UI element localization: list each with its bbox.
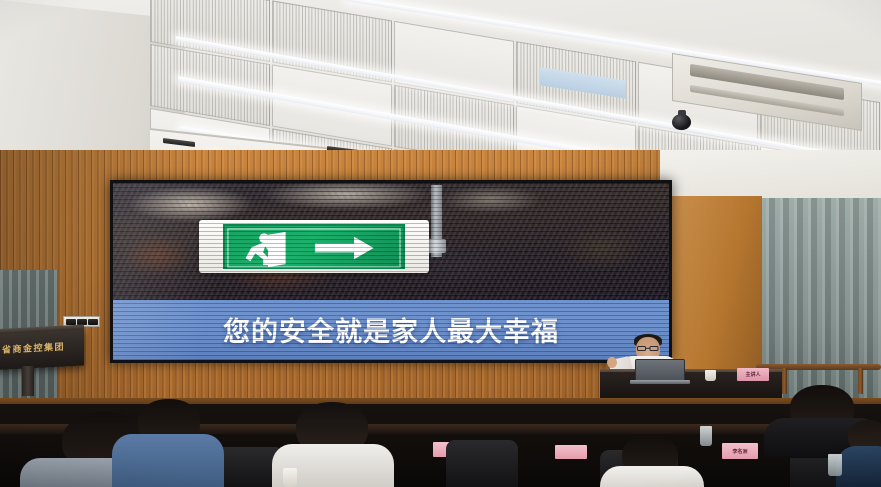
audience-placard-3-text: 李名洲	[732, 448, 747, 455]
audience-placard-2	[555, 445, 587, 459]
slide-banner: 您的安全就是家人最大幸福	[113, 300, 669, 360]
slide-banner-text: 您的安全就是家人最大幸福	[223, 310, 559, 349]
laptop-base[interactable]	[630, 380, 690, 384]
presenter-cup	[705, 370, 716, 381]
railing-post-2	[858, 368, 863, 394]
podium-stem	[22, 366, 34, 396]
pipe-clamp	[427, 239, 446, 253]
dome-security-camera	[672, 114, 691, 130]
presenter-hand	[607, 357, 617, 368]
water-glass-1	[700, 426, 712, 446]
presenter-placard-text: 主讲人	[745, 371, 760, 378]
water-glass-2	[828, 454, 842, 476]
exit-sign-green-face	[223, 224, 405, 269]
light-switch-1[interactable]	[66, 319, 76, 325]
paper-cup-1	[283, 468, 297, 487]
right-soffit	[660, 150, 881, 202]
light-switch-3[interactable]	[88, 319, 98, 325]
audience-placard-3: 李名洲	[722, 443, 758, 459]
presenter-glasses	[637, 346, 659, 351]
emergency-exit-sign	[199, 220, 429, 273]
laptop-screen[interactable]	[635, 359, 685, 381]
railing-post-1	[782, 368, 787, 394]
led-display-screen[interactable]: 您的安全就是家人最大幸福	[110, 180, 672, 363]
exit-sign-pictogram	[225, 226, 403, 270]
presenter-name-placard: 主讲人	[737, 368, 769, 381]
screen-content: 您的安全就是家人最大幸福	[113, 183, 669, 360]
conference-room-photo: 您的安全就是家人最大幸福 省商金控集团 主讲人 李名洲	[0, 0, 881, 487]
chair-2	[446, 440, 518, 487]
